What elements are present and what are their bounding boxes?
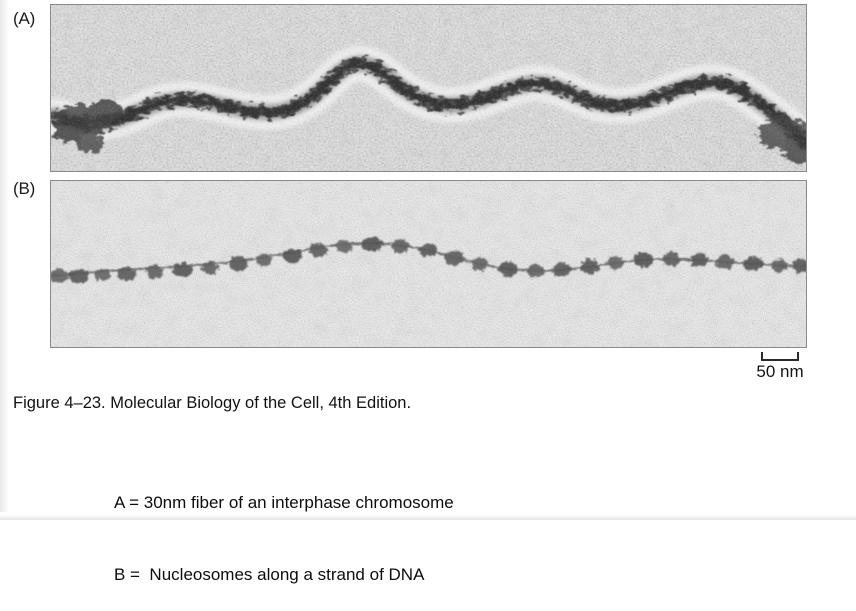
panel-a-micrograph bbox=[50, 4, 807, 172]
scale-bar-label: 50 nm bbox=[735, 362, 825, 382]
panel-a-label: (A) bbox=[13, 10, 35, 28]
page-bottom-edge-shading bbox=[0, 512, 856, 520]
scale-bar: 50 nm bbox=[735, 348, 825, 382]
scale-bar-bracket-icon bbox=[761, 352, 799, 361]
page-left-edge-shading bbox=[0, 0, 9, 520]
legend-line-b: B = Nucleosomes along a strand of DNA bbox=[114, 563, 454, 587]
figure-caption: Figure 4–23. Molecular Biology of the Ce… bbox=[13, 393, 411, 413]
panel-b-label: (B) bbox=[13, 180, 35, 198]
panel-b-micrograph bbox=[50, 180, 807, 348]
figure-legend: A = 30nm fiber of an interphase chromoso… bbox=[114, 443, 454, 611]
